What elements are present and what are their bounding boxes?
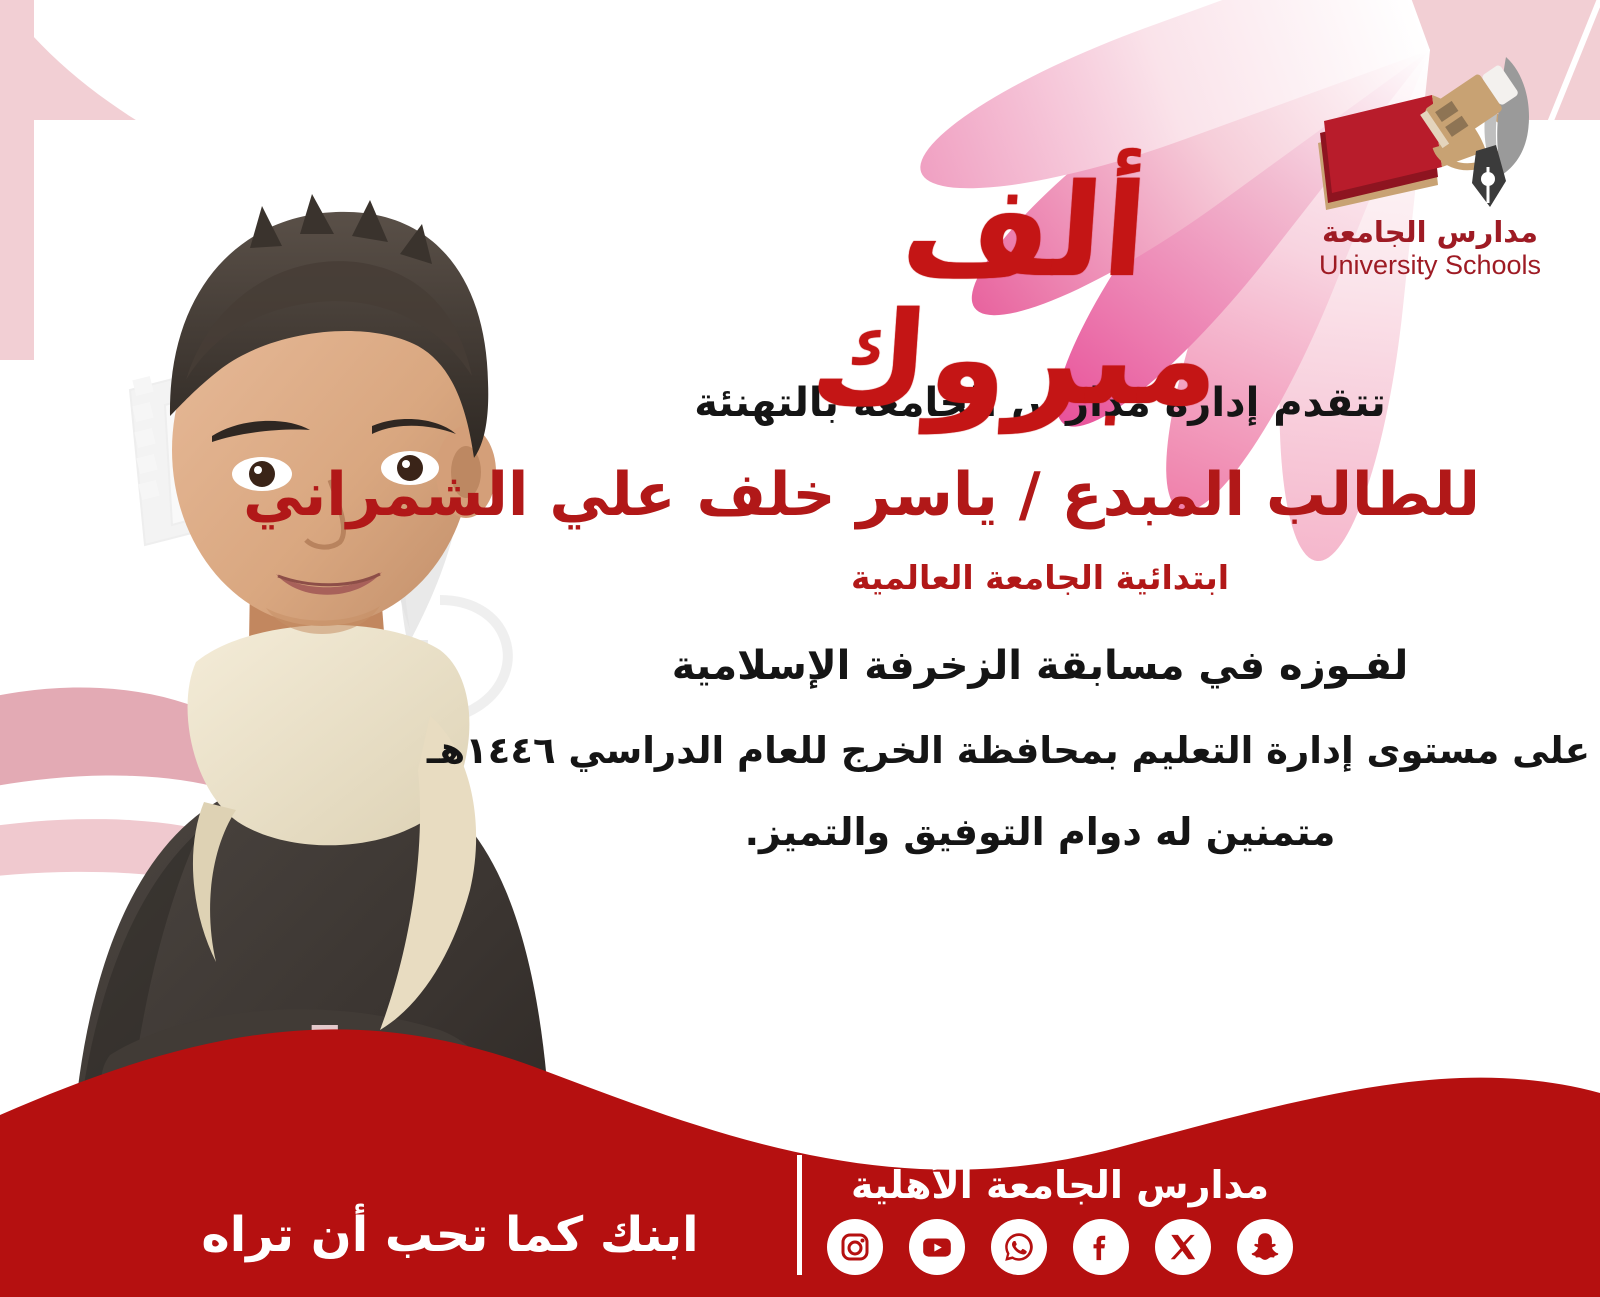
footer-tagline: ابنك كما تحب أن تراه [170,1207,730,1263]
x-twitter-icon[interactable] [1155,1219,1211,1275]
facebook-icon[interactable] [1073,1219,1129,1275]
logo-mark-icon [1310,55,1550,215]
congratulation-poster: مدارس الجامعة University Schools ألف مبر… [0,0,1600,1297]
student-school: ابتدائية الجامعة العالمية [600,558,1480,597]
award-reason: لفـوزه في مسابقة الزخرفة الإسلامية [600,643,1480,689]
footer-divider [797,1155,802,1275]
whatsapp-icon[interactable] [991,1219,1047,1275]
student-name: للطالب المبدع / ياسر خلف علي الشمراني [600,460,1480,530]
message-block: تتقدم إدارة مدارس الجامعة بالتهنئة للطال… [600,380,1480,854]
footer-school-name: مدارس الجامعة الأهلية [780,1163,1340,1207]
footer-content: مدارس الجامعة الأهلية [0,1107,1600,1297]
closing-wish: متمنين له دوام التوفيق والتميز. [600,810,1480,854]
instagram-icon[interactable] [827,1219,883,1275]
snapchat-icon[interactable] [1237,1219,1293,1275]
logo-english-name: University Schools [1300,251,1560,281]
footer-school-block: مدارس الجامعة الأهلية [780,1163,1340,1275]
calligraphy-headline: ألف مبروك [771,168,1269,424]
school-logo: مدارس الجامعة University Schools [1300,55,1560,305]
social-icons [780,1219,1340,1275]
youtube-icon[interactable] [909,1219,965,1275]
award-level: على مستوى إدارة التعليم بمحافظة الخرج لل… [600,729,1590,772]
footer-tagline-block: ابنك كما تحب أن تراه [170,1207,730,1263]
logo-arabic-name: مدارس الجامعة [1300,217,1560,249]
